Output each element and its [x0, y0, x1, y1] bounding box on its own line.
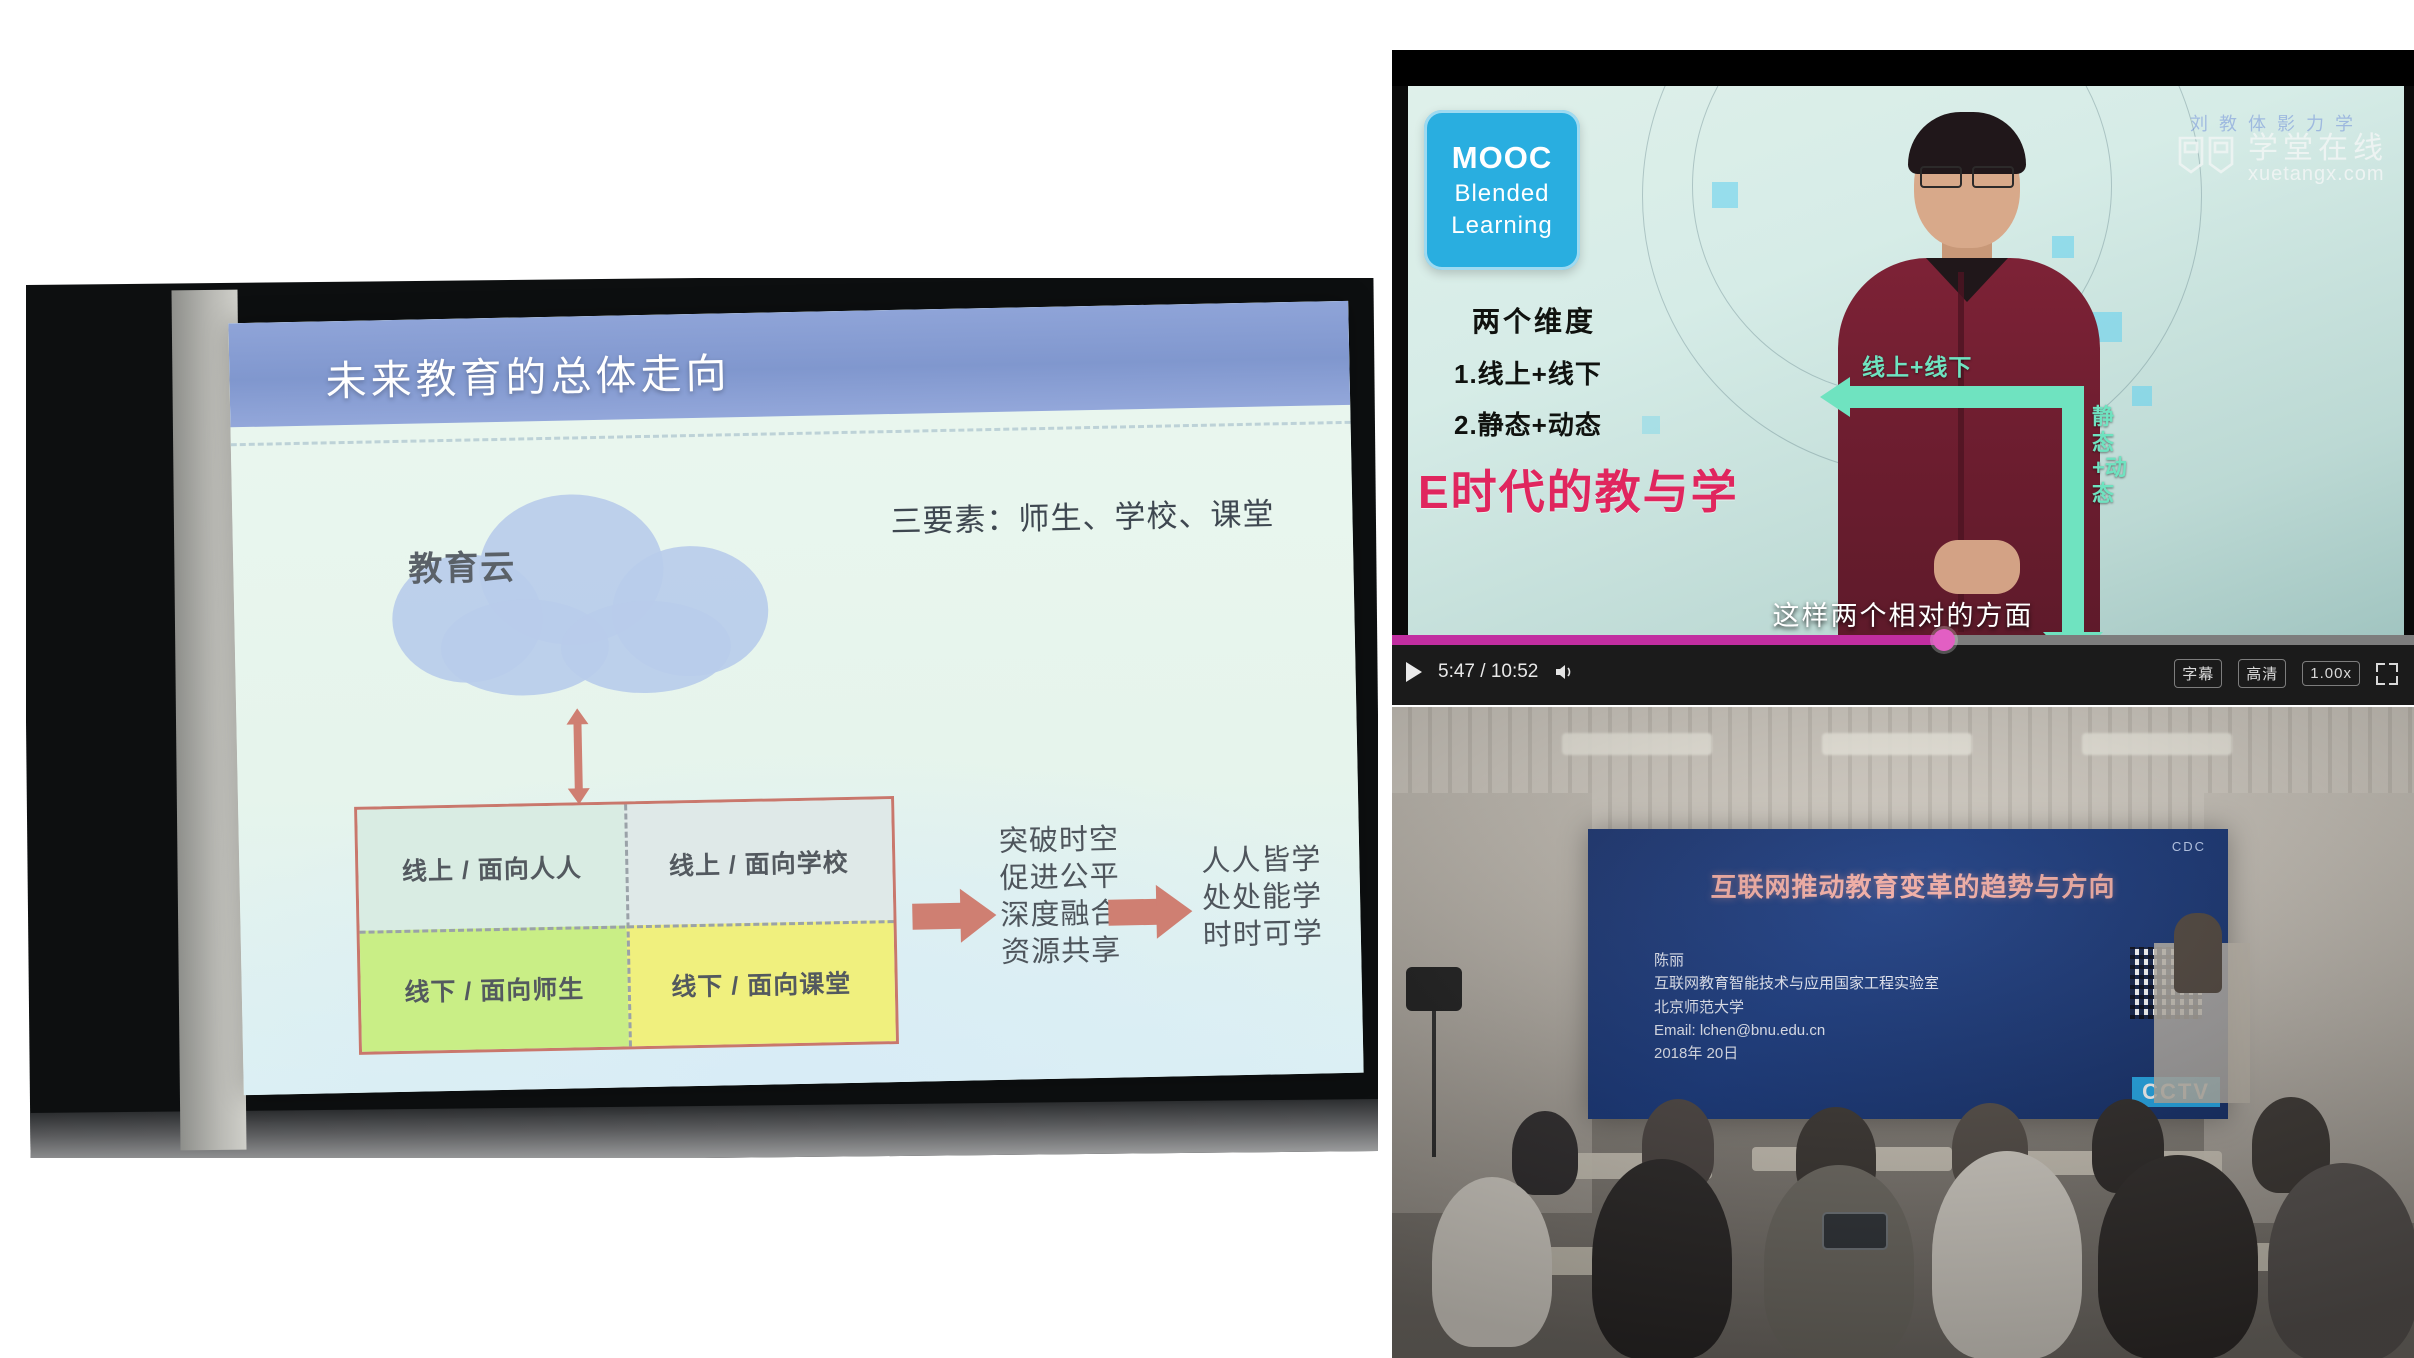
play-icon[interactable] — [1406, 662, 1422, 682]
right-arrow-icon-1 — [912, 888, 997, 944]
mooc-logo-line3: Learning — [1451, 212, 1552, 240]
mooc-logo-line1: MOOC — [1452, 140, 1552, 176]
xuetangx-wordmark: 学堂在线 xuetangx.com — [2248, 133, 2388, 186]
progress-knob[interactable] — [1933, 629, 1955, 651]
meta-university: 北京师范大学 — [1654, 996, 1939, 1019]
audience-member-front — [2268, 1163, 2414, 1358]
projected-slide-photo: 未来教育的总体走向 教育云 三要素：师生、学校、课堂 线上 / 面向人人 线上 … — [26, 278, 1378, 1158]
cloud-shape — [382, 490, 816, 699]
xuetangx-cn: 学堂在线 — [2248, 133, 2388, 165]
time-display: 5:47 / 10:52 — [1438, 661, 1538, 683]
video-letterbox — [1392, 50, 2414, 86]
mooc-logo-line2: Blended — [1454, 180, 1549, 208]
vertical-double-arrow — [566, 708, 590, 804]
audience-member — [1512, 1111, 1578, 1195]
decor-square — [2132, 386, 2152, 406]
arrow-label-horizontal: 线上+线下 — [1862, 348, 1972, 382]
arrow-label-vertical: 静态+动态 — [2092, 404, 2118, 506]
video-edge-right — [2404, 86, 2414, 651]
presentation-title: 互联网推动教育变革的趋势与方向 — [1648, 867, 2178, 904]
right-arrow-icon-2 — [1108, 884, 1193, 940]
matrix-cell-label: 线上 / 面向学校 — [669, 842, 850, 882]
matrix-cell-offline-teacher-student: 线下 / 面向师生 — [360, 925, 629, 1051]
matrix-cell-label: 线上 / 面向人人 — [402, 848, 583, 888]
classroom-photo: CDC 互联网推动教育变革的趋势与方向 陈丽 互联网教育智能技术与应用国家工程实… — [1392, 707, 2414, 1358]
glasses-icon — [1920, 166, 2014, 184]
xuetangx-logo: 学堂在线 xuetangx.com — [2176, 132, 2388, 186]
screenshot-root: 未来教育的总体走向 教育云 三要素：师生、学校、课堂 线上 / 面向人人 线上 … — [0, 0, 2414, 1358]
mooc-blended-learning-logo: MOOC Blended Learning — [1424, 110, 1580, 270]
meta-date: 2018年 20日 — [1654, 1042, 1939, 1065]
presentation-screen: CDC 互联网推动教育变革的趋势与方向 陈丽 互联网教育智能技术与应用国家工程实… — [1588, 829, 2228, 1119]
audience-member-front — [1764, 1165, 1914, 1358]
xuetangx-en: xuetangx.com — [2248, 164, 2388, 185]
fullscreen-icon[interactable] — [2376, 663, 2398, 685]
dimensions-block: 两个维度 1.线上+线下 2.静态+动态 — [1454, 300, 1602, 442]
meta-email: Email: lchen@bnu.edu.cn — [1654, 1019, 1939, 1042]
video-player[interactable]: MOOC Blended Learning 刘 教 体 影 力 学 学堂在线 x… — [1392, 50, 2414, 705]
decor-square — [1712, 182, 1738, 208]
video-subtitle: 这样两个相对的方面 — [1392, 594, 2414, 633]
ceiling-light — [1822, 733, 1972, 755]
audience-member-front — [2098, 1155, 2258, 1358]
dimension-item-2: 2.静态+动态 — [1454, 405, 1602, 442]
volume-icon[interactable] — [1554, 662, 1576, 682]
smartphone — [1822, 1212, 1888, 1250]
video-control-bar[interactable]: 5:47 / 10:52 字幕 高清 1.00x — [1392, 645, 2414, 705]
subtitles-button[interactable]: 字幕 — [2174, 659, 2222, 688]
video-stage: MOOC Blended Learning 刘 教 体 影 力 学 学堂在线 x… — [1392, 86, 2414, 651]
slide-surface: 未来教育的总体走向 教育云 三要素：师生、学校、课堂 线上 / 面向人人 线上 … — [228, 301, 1363, 1095]
arrow-horizontal — [1848, 386, 2084, 408]
open-book-icon — [2176, 132, 2236, 186]
video-edge-left — [1392, 86, 1408, 651]
playback-speed-button[interactable]: 1.00x — [2302, 661, 2360, 686]
controls-right-group: 字幕 高清 1.00x — [2174, 659, 2398, 688]
matrix-cell-offline-classroom: 线下 / 面向课堂 — [627, 920, 896, 1046]
matrix-cell-label: 线下 / 面向课堂 — [671, 963, 852, 1003]
progress-bar[interactable] — [1392, 635, 2414, 645]
audience-member-front — [1592, 1159, 1732, 1358]
camera-tripod — [1432, 1007, 1436, 1157]
outcome-column-right: 人人皆学 处处能学 时时可学 — [1201, 841, 1323, 955]
quality-button[interactable]: 高清 — [2238, 659, 2286, 688]
dimensions-title: 两个维度 — [1472, 300, 1602, 340]
speaker-at-podium — [2174, 913, 2222, 993]
video-headline: E时代的教与学 — [1418, 456, 1739, 522]
three-elements-text: 三要素：师生、学校、课堂 — [890, 488, 1275, 541]
ceiling-light — [2082, 733, 2232, 755]
decor-square — [1642, 416, 1660, 434]
ceiling-light — [1562, 733, 1712, 755]
audience-member-front — [1932, 1151, 2082, 1358]
outcome-column-left: 突破时空 促进公平 深度融合 资源共享 — [999, 822, 1122, 973]
progress-fill — [1392, 635, 1944, 645]
screen-corner-logo: CDC — [2172, 839, 2206, 854]
cloud-label: 教育云 — [408, 540, 517, 591]
meta-lab: 互联网教育智能技术与应用国家工程实验室 — [1654, 972, 1939, 995]
quadrant-matrix: 线上 / 面向人人 线上 / 面向学校 线下 / 面向师生 线下 / 面向课堂 — [354, 796, 899, 1055]
slide-title: 未来教育的总体走向 — [325, 339, 731, 407]
dimension-item-1: 1.线上+线下 — [1454, 354, 1602, 391]
matrix-cell-label: 线下 / 面向师生 — [404, 969, 585, 1009]
meta-presenter: 陈丽 — [1654, 949, 1939, 972]
presentation-meta: 陈丽 互联网教育智能技术与应用国家工程实验室 北京师范大学 Email: lch… — [1654, 949, 1939, 1065]
controls-left-group: 5:47 / 10:52 — [1406, 661, 1576, 683]
matrix-cell-online-everyone: 线上 / 面向人人 — [357, 804, 626, 930]
audience-member-front — [1432, 1177, 1552, 1347]
matrix-cell-online-school: 线上 / 面向学校 — [624, 799, 893, 925]
